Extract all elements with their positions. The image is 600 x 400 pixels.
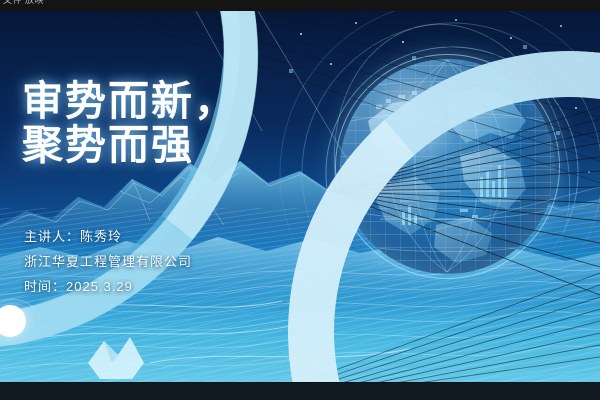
presentation-window: 文件 放映 [0, 0, 600, 400]
bottom-status-bar[interactable] [0, 383, 600, 400]
speaker-line: 主讲人：陈秀玲 [24, 224, 192, 249]
app-bar-title: 文件 放映 [3, 0, 44, 6]
date-line: 时间：2025.3.29 [24, 274, 192, 299]
slide-meta: 主讲人：陈秀玲 浙江华夏工程管理有限公司 时间：2025.3.29 [24, 224, 192, 299]
app-title-bar[interactable]: 文件 放映 [0, 0, 600, 11]
slide-canvas: 审势而新， 聚势而强 主讲人：陈秀玲 浙江华夏工程管理有限公司 时间：2025.… [0, 11, 600, 383]
bottom-bar-edge [0, 382, 600, 383]
title-line-2: 聚势而强 [22, 123, 237, 167]
slide-title: 审势而新， 聚势而强 [22, 79, 237, 167]
title-line-1: 审势而新， [22, 79, 237, 123]
organization-line: 浙江华夏工程管理有限公司 [24, 249, 192, 274]
